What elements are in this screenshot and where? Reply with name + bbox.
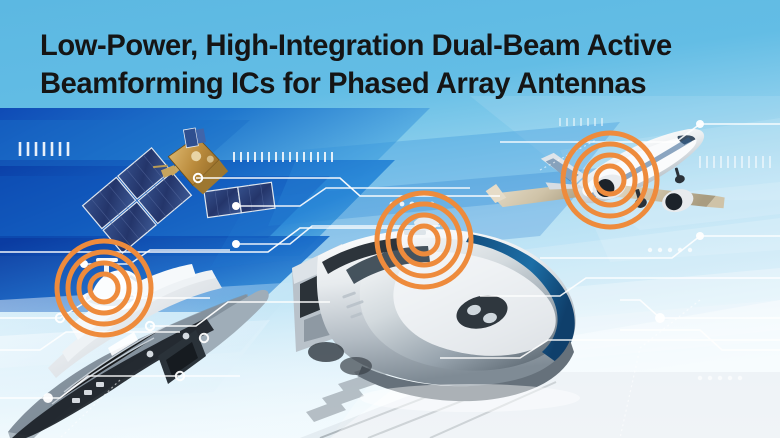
promo-banner: Low-Power, High-Integration Dual-Beam Ac…	[0, 0, 780, 438]
ship-signal-rings	[57, 241, 151, 335]
train-signal-rings	[377, 193, 471, 287]
signal-rings-layer	[0, 0, 780, 438]
plane-signal-rings	[563, 133, 657, 227]
